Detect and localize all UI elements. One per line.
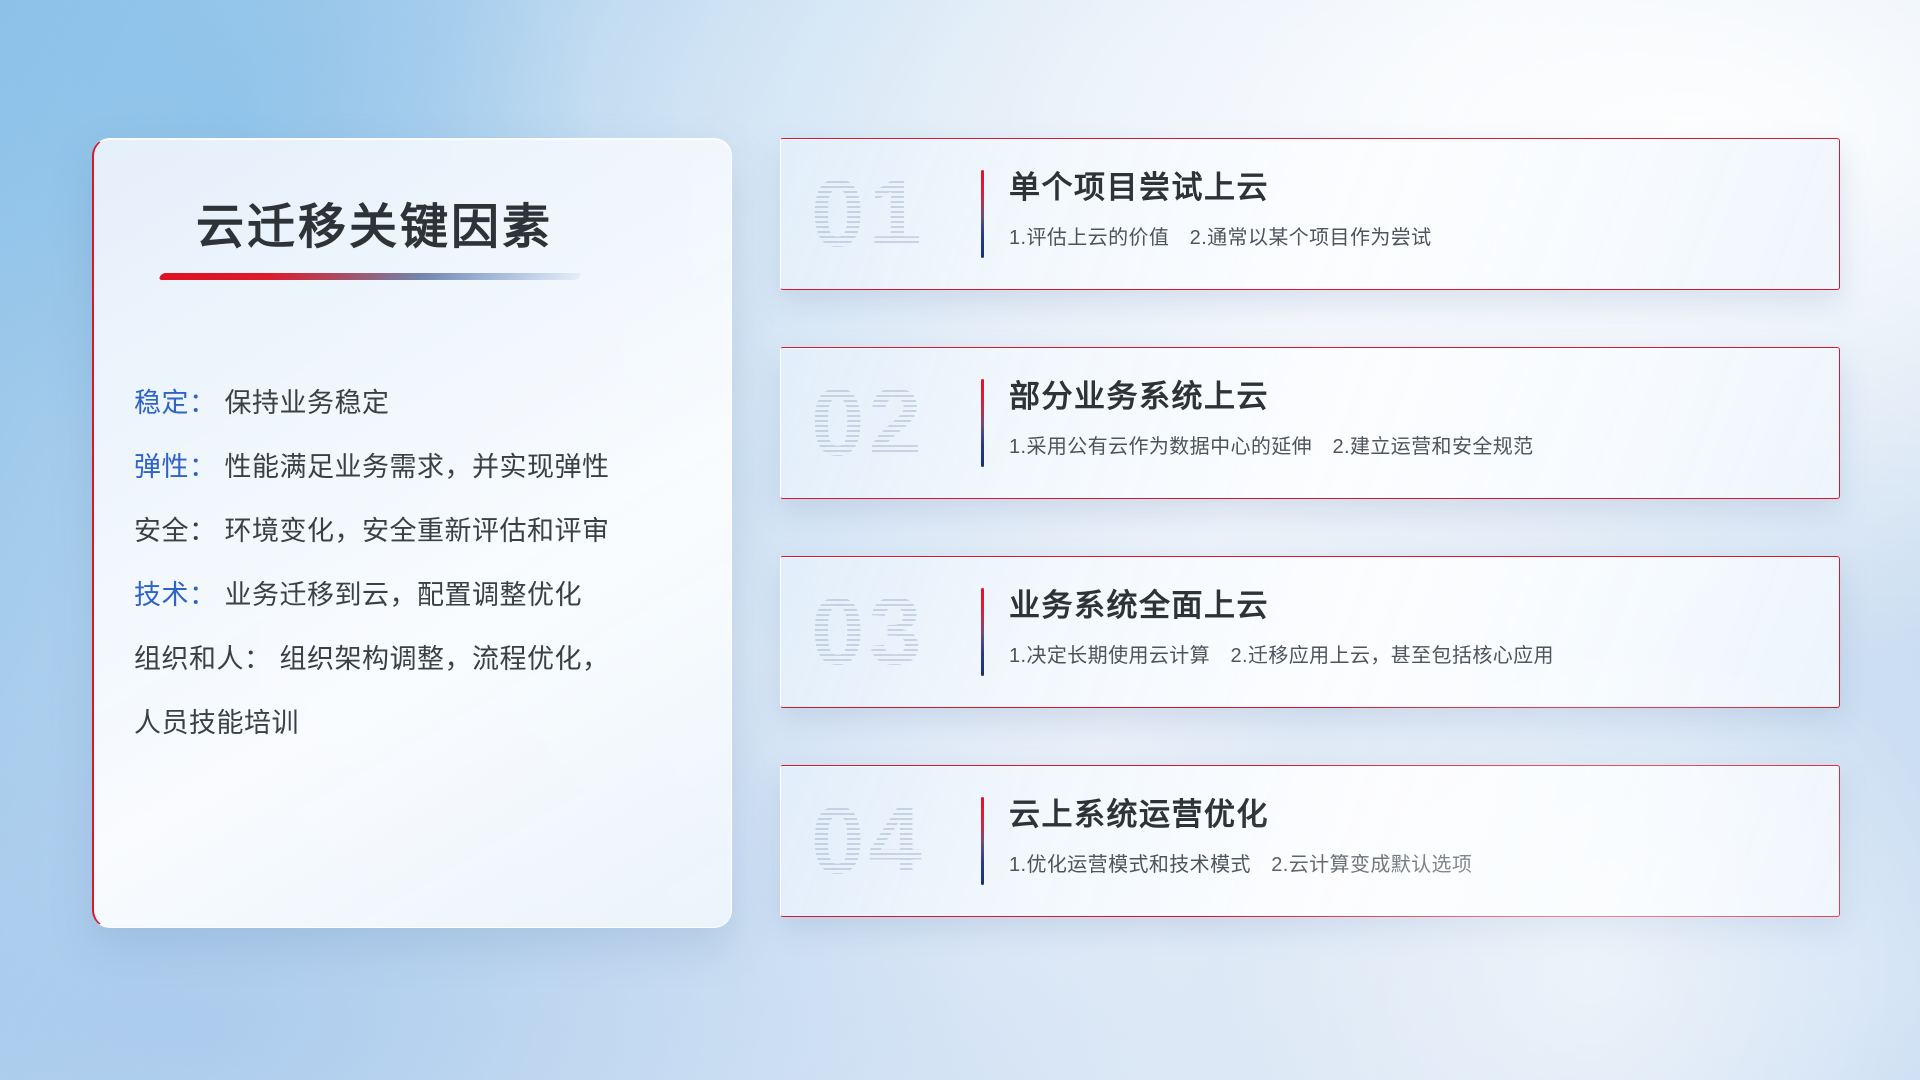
- factor-row: 弹性： 性能满足业务需求，并实现弹性: [134, 435, 697, 499]
- stage-number: 02: [811, 375, 926, 471]
- factor-value: 性能满足业务需求，并实现弹性: [225, 452, 610, 482]
- stage-accent-bar: [981, 379, 984, 467]
- factor-label: 安全：: [134, 516, 217, 546]
- stage-title: 部分业务系统上云: [1009, 378, 1815, 415]
- factor-row: 稳定： 保持业务稳定: [134, 371, 697, 435]
- stage-card[interactable]: 04 云上系统运营优化 1.优化运营模式和技术模式 2.云计算变成默认选项: [780, 765, 1840, 917]
- factor-row: 人员技能培训: [134, 691, 697, 755]
- stage-description: 1.采用公有云作为数据中心的延伸 2.建立运营和安全规范: [1009, 430, 1815, 459]
- factor-label: 稳定：: [134, 388, 217, 418]
- stage-card-body: 业务系统全面上云 1.决定长期使用云计算 2.迁移应用上云，甚至包括核心应用: [1009, 587, 1815, 668]
- stage-title: 业务系统全面上云: [1009, 587, 1815, 624]
- factor-label: 弹性：: [134, 452, 217, 482]
- stage-number: 01: [811, 166, 926, 262]
- factor-value: 组织架构调整，流程优化，: [280, 644, 610, 674]
- stage-card-body: 单个项目尝试上云 1.评估上云的价值 2.通常以某个项目作为尝试: [1009, 169, 1815, 250]
- factor-value: 保持业务稳定: [225, 388, 390, 418]
- slide-canvas: 云迁移关键因素 稳定： 保持业务稳定 弹性： 性能满足业务需求，并实现弹性 安全…: [0, 0, 1920, 1080]
- factor-value: 人员技能培训: [134, 708, 299, 738]
- key-factors-panel: 云迁移关键因素 稳定： 保持业务稳定 弹性： 性能满足业务需求，并实现弹性 安全…: [92, 138, 732, 928]
- title-underline-rule: [158, 273, 582, 280]
- stage-card-body: 部分业务系统上云 1.采用公有云作为数据中心的延伸 2.建立运营和安全规范: [1009, 378, 1815, 459]
- factor-list: 稳定： 保持业务稳定 弹性： 性能满足业务需求，并实现弹性 安全： 环境变化，安…: [134, 371, 697, 755]
- stage-description: 1.评估上云的价值 2.通常以某个项目作为尝试: [1009, 221, 1815, 250]
- stage-number: 03: [811, 584, 926, 680]
- stage-card[interactable]: 01 单个项目尝试上云 1.评估上云的价值 2.通常以某个项目作为尝试: [780, 138, 1840, 290]
- page-title: 云迁移关键因素: [196, 187, 553, 257]
- stage-description: 1.决定长期使用云计算 2.迁移应用上云，甚至包括核心应用: [1009, 639, 1815, 668]
- factor-row: 组织和人： 组织架构调整，流程优化，: [134, 627, 697, 691]
- stage-description: 1.优化运营模式和技术模式 2.云计算变成默认选项: [1009, 848, 1815, 877]
- stage-card-body: 云上系统运营优化 1.优化运营模式和技术模式 2.云计算变成默认选项: [1009, 796, 1815, 877]
- stage-card-list: 01 单个项目尝试上云 1.评估上云的价值 2.通常以某个项目作为尝试 02 部…: [780, 138, 1840, 917]
- stage-accent-bar: [981, 797, 984, 885]
- stage-number: 04: [811, 793, 926, 889]
- factor-label: 技术：: [134, 580, 217, 610]
- factor-row: 技术： 业务迁移到云，配置调整优化: [134, 563, 697, 627]
- stage-accent-bar: [981, 588, 984, 676]
- stage-card[interactable]: 02 部分业务系统上云 1.采用公有云作为数据中心的延伸 2.建立运营和安全规范: [780, 347, 1840, 499]
- factor-label: 组织和人：: [134, 644, 272, 674]
- factor-value: 业务迁移到云，配置调整优化: [225, 580, 583, 610]
- stage-title: 云上系统运营优化: [1009, 796, 1815, 833]
- stage-title: 单个项目尝试上云: [1009, 169, 1815, 206]
- stage-card[interactable]: 03 业务系统全面上云 1.决定长期使用云计算 2.迁移应用上云，甚至包括核心应…: [780, 556, 1840, 708]
- factor-row: 安全： 环境变化，安全重新评估和评审: [134, 499, 697, 563]
- stage-accent-bar: [981, 170, 984, 258]
- factor-value: 环境变化，安全重新评估和评审: [225, 516, 610, 546]
